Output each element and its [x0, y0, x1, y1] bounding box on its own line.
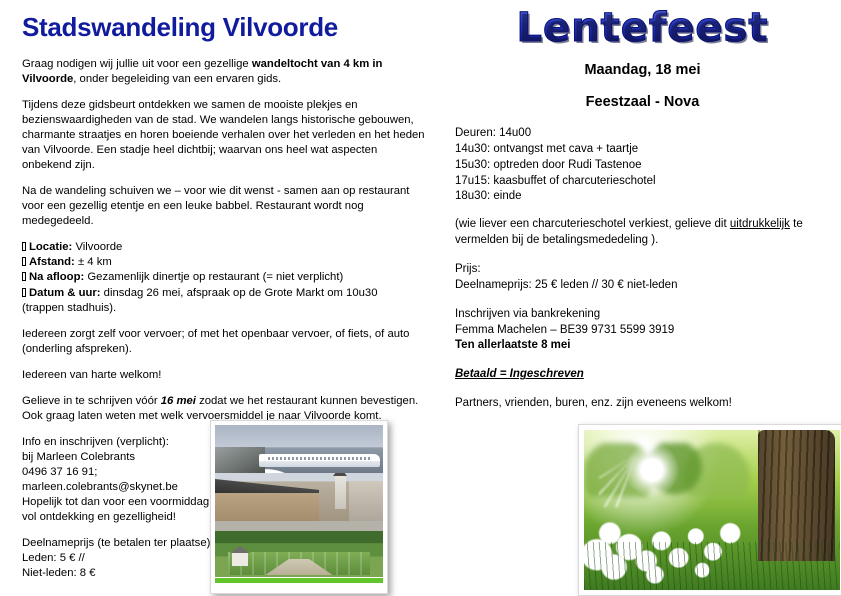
photo-panel-riverboat — [215, 425, 383, 473]
schedule-list: Deuren: 14u00 14u30: ontvangst met cava … — [455, 126, 830, 205]
right-column: Lentefeest Maandag, 18 mei Feestzaal - N… — [455, 8, 830, 425]
list-item-label: Afstand: — [29, 256, 75, 268]
page-title-lentefeest: Lentefeest — [517, 8, 769, 48]
list-item-value: dinsdag 26 mei, afspraak op de Grote Mar… — [101, 287, 378, 299]
photo-panel-garden — [215, 531, 383, 577]
price-label: Prijs: — [455, 262, 830, 278]
event-venue: Feestzaal - Nova — [455, 94, 830, 110]
schedule-item: 15u30: optreden door Rudi Tastenoe — [455, 158, 830, 174]
bank-block: Inschrijven via bankrekening Femma Mache… — [455, 307, 830, 355]
paid-equals-registered: Betaald = Ingeschreven — [455, 367, 830, 383]
intro-text-part2: , onder begeleiding van een ervaren gids… — [73, 73, 281, 85]
riverboat-shape — [259, 454, 380, 467]
sun-flare-shape — [625, 443, 679, 497]
description-paragraph: Tijdens deze gidsbeurt ontdekken we same… — [22, 98, 426, 173]
schedule-item: Deuren: 14u00 — [455, 126, 830, 142]
details-list: Locatie: Vilvoorde Afstand: ± 4 km Na af… — [22, 240, 426, 315]
note-emphasis: uitdrukkelijk — [730, 218, 790, 230]
charcuterie-note: (wie liever een charcuterieschotel verki… — [455, 217, 830, 249]
bank-deadline: Ten allerlaatste 8 mei — [455, 338, 830, 354]
schedule-item: 14u30: ontvangst met cava + taartje — [455, 142, 830, 158]
partners-welcome: Partners, vrienden, buren, enz. zijn eve… — [455, 396, 830, 412]
cliff-shape — [215, 447, 265, 473]
list-item-label: Na afloop: — [29, 271, 84, 283]
intro-paragraph: Graag nodigen wij jullie uit voor een ge… — [22, 57, 426, 87]
right-price-block: Prijs: Deelnameprijs: 25 € leden // 30 €… — [455, 262, 830, 294]
green-accent-bar — [215, 578, 383, 583]
church-tower-shape — [335, 475, 346, 509]
spring-meadow-photo — [578, 424, 841, 596]
signup-deadline: 16 mei — [161, 395, 196, 407]
intro-text-part1: Graag nodigen wij jullie uit voor een ge… — [22, 58, 252, 70]
bank-account: Femma Machelen – BE39 9731 5599 3919 — [455, 323, 830, 339]
schedule-item: 17u15: kaasbuffet of charcuterieschotel — [455, 174, 830, 190]
list-item: Datum & uur: dinsdag 26 mei, afspraak op… — [22, 286, 426, 301]
flyer-page: Stadswandeling Vilvoorde Graag nodigen w… — [0, 0, 841, 595]
wordart-container: Lentefeest — [455, 8, 830, 48]
list-item-value: ± 4 km — [75, 256, 112, 268]
list-item-value: Gezamenlijk dinertje op restaurant (= ni… — [84, 271, 343, 283]
grass-shape — [584, 542, 840, 590]
signup-text-part1: Gelieve in te schrijven vóór — [22, 395, 161, 407]
list-item-label: Locatie: — [29, 241, 72, 253]
street-shape — [215, 521, 383, 531]
list-tail: (trappen stadhuis). — [22, 301, 426, 316]
list-item-value: Vilvoorde — [72, 241, 122, 253]
price-value: Deelnameprijs: 25 € leden // 30 € niet-l… — [455, 278, 830, 294]
list-item: Afstand: ± 4 km — [22, 255, 426, 270]
bullet-box-icon — [22, 288, 26, 297]
photo-panel-historic-street — [215, 473, 383, 531]
list-item-label: Datum & uur: — [29, 287, 101, 299]
page-title-stadswandeling: Stadswandeling Vilvoorde — [22, 14, 426, 41]
transport-paragraph: Iedereen zorgt zelf voor vervoer; of met… — [22, 327, 426, 357]
bullet-box-icon — [22, 242, 26, 251]
schedule-item: 18u30: einde — [455, 189, 830, 205]
bank-heading: Inschrijven via bankrekening — [455, 307, 830, 323]
bullet-box-icon — [22, 272, 26, 281]
pavilion-shape — [232, 552, 248, 566]
list-item: Locatie: Vilvoorde — [22, 240, 426, 255]
meadow-scene — [584, 430, 840, 590]
welcome-line: Iedereen van harte welkom! — [22, 368, 426, 383]
list-item: Na afloop: Gezamenlijk dinertje op resta… — [22, 270, 426, 285]
restaurant-paragraph: Na de wandeling schuiven we – voor wie d… — [22, 184, 426, 229]
vilvoorde-collage-photo — [210, 420, 388, 594]
note-part1: (wie liever een charcuterieschotel verki… — [455, 218, 730, 230]
bullet-box-icon — [22, 257, 26, 266]
event-date: Maandag, 18 mei — [455, 62, 830, 78]
paid-note-text: Betaald = Ingeschreven — [455, 368, 584, 380]
